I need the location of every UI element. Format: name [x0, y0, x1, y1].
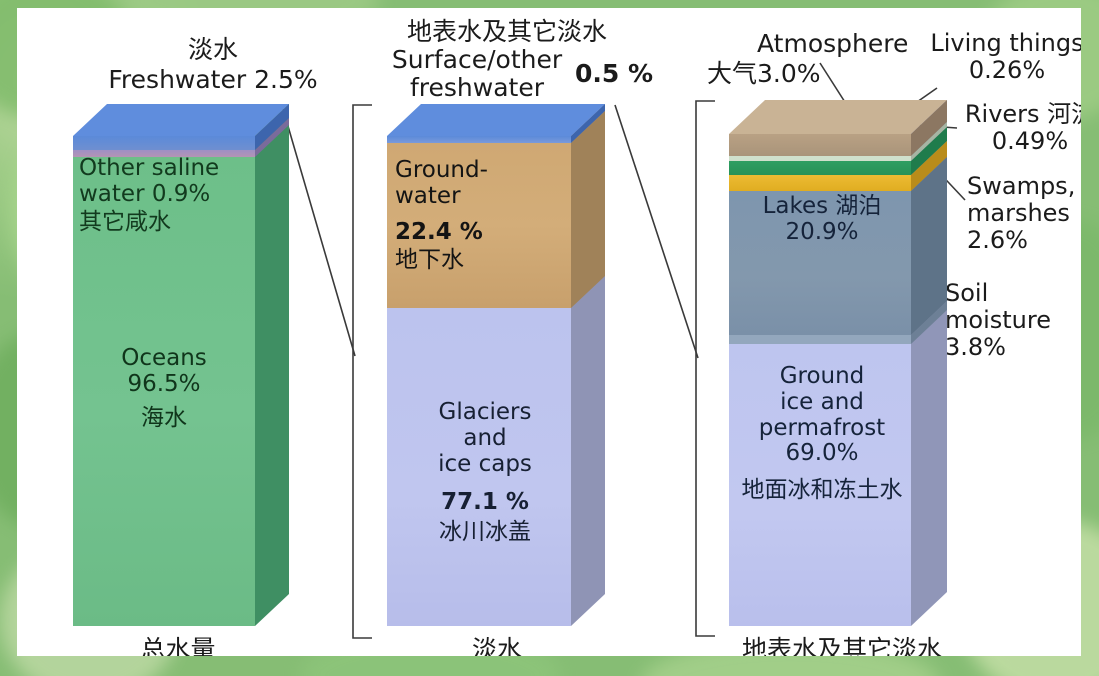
col3-soil-moisture-label: Soil moisture 3.8%: [945, 280, 1081, 361]
col3-lakes-label: Lakes 湖泊 20.9%: [737, 194, 907, 246]
segment-surface-other-freshwater: [387, 136, 571, 143]
col3-permafrost-label-en: Ground ice and permafrost 69.0%: [737, 364, 907, 467]
col2-caption: 淡水: [407, 630, 587, 656]
col3-living-things-label: Living things 0.26%: [917, 30, 1081, 84]
col1-other-saline-label-en: Other saline water 0.9%: [79, 156, 249, 208]
col2-groundwater-pct: 22.4 %: [395, 220, 565, 246]
col3-swamps-label: Swamps, marshes 2.6%: [967, 173, 1081, 254]
col2-glaciers-pct: 77.1 %: [405, 490, 565, 516]
bracket-col3: [696, 101, 715, 636]
col3-atmosphere-label-cn: 大气3.0%: [707, 60, 887, 88]
col1-other-saline-label-cn: 其它咸水: [79, 210, 249, 236]
segment-freshwater: [73, 136, 255, 150]
col2-groundwater-label-cn: 地下水: [395, 248, 565, 274]
slide-background: 淡水 Freshwater 2.5%: [0, 0, 1099, 676]
bar-side-col1: [255, 104, 289, 626]
bar-side-col3: [911, 100, 947, 626]
bar-front-col2: [387, 136, 571, 626]
bar-side-col2: [571, 104, 605, 626]
col2-header-en: Surface/other freshwater: [362, 46, 592, 102]
col3-permafrost-label-cn: 地面冰和冻土水: [717, 478, 927, 504]
bar-side-shape-col3: [911, 100, 947, 626]
col1-header-en: Freshwater 2.5%: [73, 66, 353, 94]
col2-header-cn: 地表水及其它淡水: [362, 18, 652, 46]
col2-groundwater-label-en: Ground- water: [395, 158, 565, 210]
leader-line-col1-to-col2: [283, 109, 355, 356]
segment-swamps-marshes: [729, 175, 911, 191]
segment-rivers: [729, 161, 911, 175]
chart-card: 淡水 Freshwater 2.5%: [17, 8, 1081, 656]
bar-side-shape-col2: [571, 104, 605, 626]
segment-soil-moisture: [729, 335, 911, 344]
leader-line-col2-to-col3: [615, 105, 698, 358]
col1-oceans-label-en: Oceans 96.5%: [89, 346, 239, 398]
col3-rivers-label: Rivers 河流 0.49%: [955, 101, 1081, 155]
col1-oceans-label-cn: 海水: [89, 406, 239, 432]
bar-side-shape-col1: [255, 104, 289, 626]
col3-caption: 地表水及其它淡水: [707, 630, 977, 656]
col1-caption: 总水量: [83, 630, 273, 656]
col2-glaciers-label-en: Glaciers and ice caps: [405, 400, 565, 477]
col1-header-cn: 淡水: [113, 36, 313, 64]
col2-header-pct: 0.5 %: [575, 60, 685, 88]
segment-atmosphere: [729, 134, 911, 156]
col2-glaciers-label-cn: 冰川冰盖: [405, 520, 565, 546]
bracket-col2: [353, 105, 372, 638]
